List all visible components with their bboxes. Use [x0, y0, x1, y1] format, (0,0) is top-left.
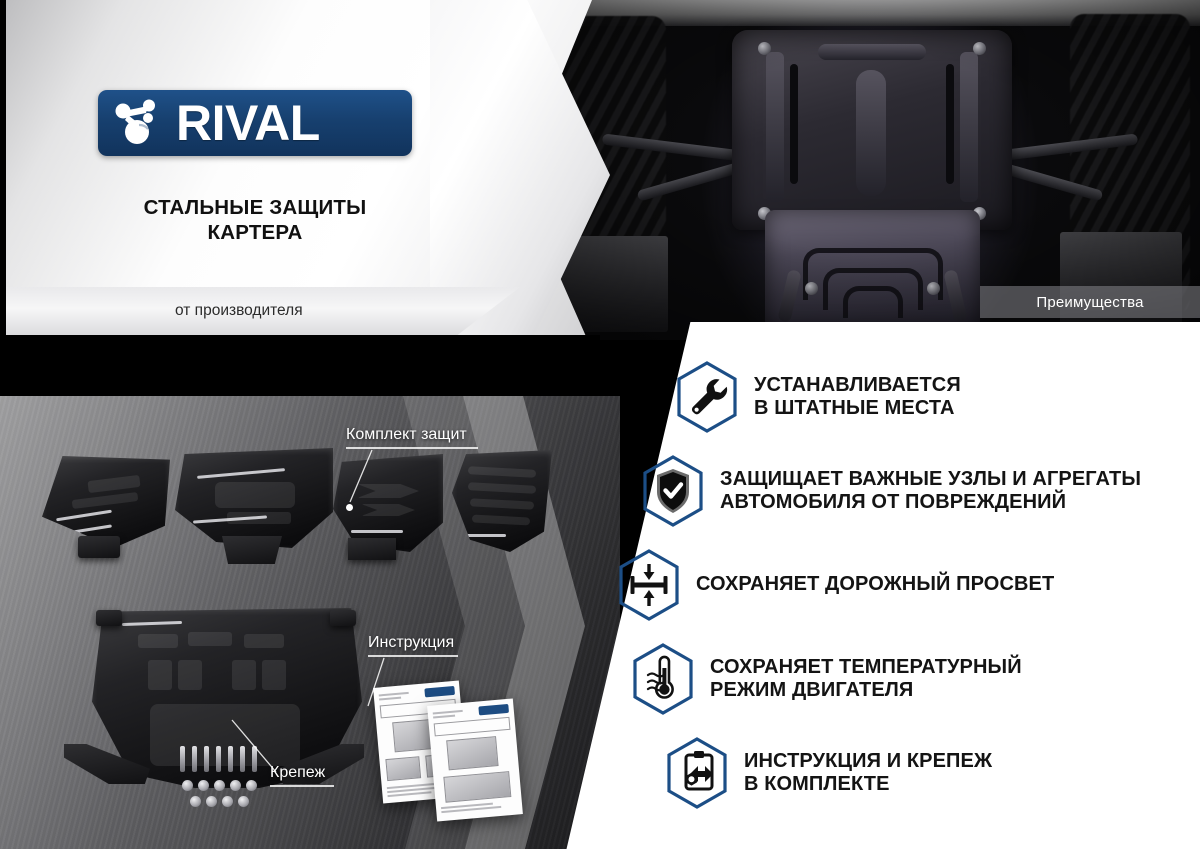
- callout-hardware: Крепеж: [270, 764, 334, 787]
- header-subtitle: от производителя: [175, 302, 303, 320]
- rival-wordmark: RIVAL: [176, 98, 320, 148]
- skid-plate-1-tab: [78, 536, 120, 558]
- advantage-label-clearance: СОХРАНЯЕТ ДОРОЖНЫЙ ПРОСВЕТ: [696, 573, 1054, 596]
- page-title: СТАЛЬНЫЕ ЗАЩИТЫ КАРТЕРА: [98, 195, 412, 245]
- thermometer-icon: [630, 642, 696, 716]
- advantage-label-temperature: СОХРАНЯЕТ ТЕМПЕРАТУРНЫЙ РЕЖИМ ДВИГАТЕЛЯ: [710, 656, 1022, 703]
- skid-plate-3-tab: [348, 538, 396, 560]
- advantage-item-protection: ЗАЩИЩАЕТ ВАЖНЫЕ УЗЛЫ И АГРЕГАТЫ АВТОМОБИ…: [640, 454, 1200, 528]
- skid-plate-2-tab: [222, 536, 282, 564]
- section-tag-advantages: Преимущества: [980, 286, 1200, 318]
- ground-clearance-icon: [616, 548, 682, 622]
- shield-check-icon: [640, 454, 706, 528]
- section-tag-label: Преимущества: [1036, 294, 1143, 311]
- callout-instruction: Инструкция: [368, 634, 458, 657]
- page-title-line2: КАРТЕРА: [98, 220, 412, 245]
- advantages-list: УСТАНАВЛИВАЕТСЯ В ШТАТНЫЕ МЕСТА ЗАЩИЩАЕТ…: [640, 360, 1200, 830]
- advantage-label-fitment: УСТАНАВЛИВАЕТСЯ В ШТАТНЫЕ МЕСТА: [754, 374, 961, 421]
- advantage-label-kit: ИНСТРУКЦИЯ И КРЕПЕЖ В КОМПЛЕКТЕ: [744, 750, 992, 797]
- product-photo-panel: Комплект защит Инструкция Крепеж: [0, 396, 620, 849]
- advantage-item-temperature: СОХРАНЯЕТ ТЕМПЕРАТУРНЫЙ РЕЖИМ ДВИГАТЕЛЯ: [630, 642, 1200, 716]
- main-plate-tab-left: [96, 610, 122, 626]
- advantage-label-protection: ЗАЩИЩАЕТ ВАЖНЫЕ УЗЛЫ И АГРЕГАТЫ АВТОМОБИ…: [720, 468, 1141, 515]
- poster-canvas: Преимущества RIVAL СТАЛЬНЫЕ ЗАЩИТЫ КАРТЕ…: [0, 0, 1200, 849]
- left-black-edge: [0, 0, 6, 349]
- molecule-icon: [112, 96, 170, 151]
- clipboard-bolt-icon: [664, 736, 730, 810]
- advantage-item-clearance: СОХРАНЯЕТ ДОРОЖНЫЙ ПРОСВЕТ: [616, 548, 1200, 622]
- advantage-item-fitment: УСТАНАВЛИВАЕТСЯ В ШТАТНЫЕ МЕСТА: [674, 360, 1200, 434]
- black-divider: [0, 335, 600, 399]
- rival-logo: RIVAL: [98, 90, 412, 156]
- wrench-icon: [674, 360, 740, 434]
- page-title-line1: СТАЛЬНЫЕ ЗАЩИТЫ: [98, 195, 412, 220]
- callout-plate-set-label: Комплект защит: [346, 426, 478, 444]
- main-plate-tab-right: [330, 610, 356, 626]
- callout-plate-set: Комплект защит: [346, 426, 478, 449]
- callout-instruction-label: Инструкция: [368, 634, 458, 652]
- instruction-sheet-2: [427, 698, 523, 821]
- advantage-item-kit: ИНСТРУКЦИЯ И КРЕПЕЖ В КОМПЛЕКТЕ: [664, 736, 1200, 810]
- header-subtitle-band: от производителя: [0, 287, 520, 335]
